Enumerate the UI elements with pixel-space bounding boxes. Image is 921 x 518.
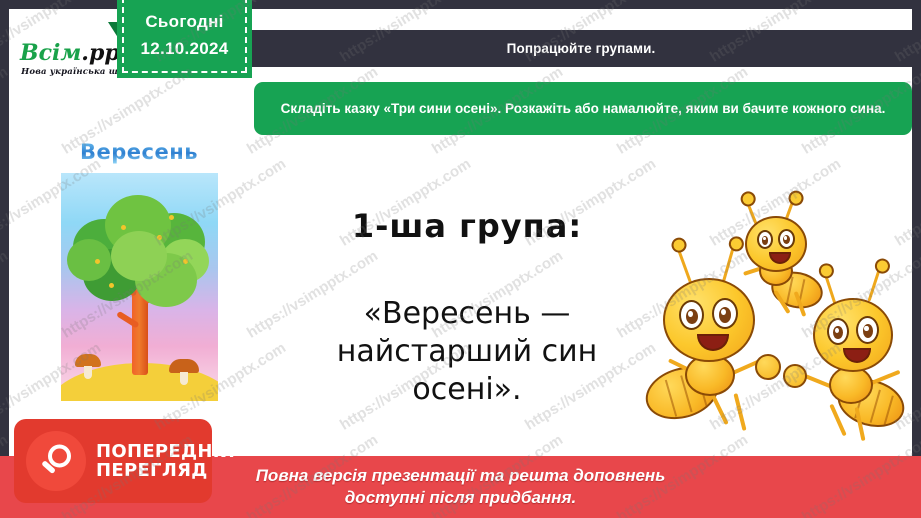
preview-label: ПОПЕРЕДНІЙ ПЕРЕГЛЯД xyxy=(96,442,235,480)
ant-fist xyxy=(755,354,781,380)
ant-mouth xyxy=(697,334,729,351)
leaf-dot xyxy=(169,215,174,220)
ant-mouth xyxy=(843,348,871,363)
today-label: Сьогодні xyxy=(145,12,223,32)
ant-eye xyxy=(679,300,704,330)
group-heading: 1-ша група: xyxy=(297,207,637,245)
leaf-dot xyxy=(183,259,188,264)
preview-line-2: ПЕРЕГЛЯД xyxy=(96,461,235,480)
mushroom-stem xyxy=(180,372,188,385)
ant-head xyxy=(663,278,755,362)
leaf-dot xyxy=(121,225,126,230)
group-quote: «Вересень — найстарший син осені». xyxy=(289,295,645,408)
purchase-notice-text: Повна версія презентації та решта доповн… xyxy=(256,465,666,510)
banner-line-2: доступні після придбання. xyxy=(256,487,666,509)
leaf-dot xyxy=(157,235,162,240)
slide-viewer: Всім.pptx Нова українська школа Вересень xyxy=(0,0,921,518)
september-illustration xyxy=(61,173,218,401)
ant-fist xyxy=(783,364,807,388)
abdomen-stripe xyxy=(884,395,894,424)
instruction-text: Складіть казку «Три сини осені». Розкажі… xyxy=(281,99,886,118)
mushroom-cap xyxy=(169,359,199,373)
today-date-badge: Сьогодні 12.10.2024 xyxy=(117,0,252,78)
banner-line-1: Повна версія презентації та решта доповн… xyxy=(256,465,666,487)
antenna xyxy=(722,244,736,283)
mushroom xyxy=(75,354,101,379)
ant-eye xyxy=(712,298,738,329)
task-title-text: Попрацюйте групами. xyxy=(507,41,656,56)
ant-eye xyxy=(827,318,849,345)
ant-head xyxy=(813,298,893,372)
today-date: 12.10.2024 xyxy=(140,39,228,59)
three-ants-illustration xyxy=(649,194,912,454)
preview-badge[interactable]: ПОПЕРЕДНІЙ ПЕРЕГЛЯД xyxy=(14,419,212,503)
september-title: Вересень xyxy=(55,140,223,164)
ant-left xyxy=(649,246,799,446)
magnifier-icon xyxy=(26,431,86,491)
preview-line-1: ПОПЕРЕДНІЙ xyxy=(96,442,235,461)
task-title-bar: Попрацюйте групами. xyxy=(250,30,912,67)
logo-name-text: Всім xyxy=(20,40,81,66)
ant-leg xyxy=(709,391,728,425)
abdomen-stripe xyxy=(870,390,881,423)
abdomen-stripe xyxy=(665,380,677,417)
ant-right xyxy=(791,270,912,450)
instruction-box: Складіть казку «Три сини осені». Розкажі… xyxy=(254,82,912,135)
tree-foliage xyxy=(67,239,111,281)
mushroom xyxy=(169,359,199,385)
antenna xyxy=(868,266,882,301)
leaf-dot xyxy=(95,259,100,264)
leaf-dot xyxy=(109,283,114,288)
ant-leg xyxy=(733,393,746,431)
ant-eye xyxy=(856,316,879,344)
antenna xyxy=(676,247,692,286)
mushroom-stem xyxy=(84,366,92,379)
